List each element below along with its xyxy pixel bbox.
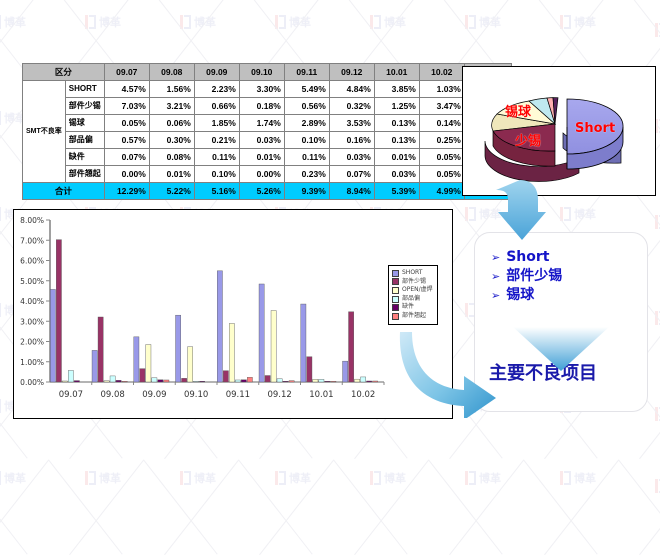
table-side-label: SMT不良率 (23, 81, 66, 183)
table-total-cell: 5.16% (194, 183, 239, 200)
watermark-line (48, 459, 123, 554)
legend-swatch (392, 278, 399, 285)
watermark-logo: 博革 (180, 470, 216, 486)
table-row: 部件少锡7.03%3.21%0.66%0.18%0.56%0.32%1.25%3… (23, 98, 512, 115)
y-axis-tick-label: 4.00% (20, 297, 44, 306)
table-total-cell: 9.39% (284, 183, 329, 200)
bar (325, 381, 330, 382)
bar (241, 380, 246, 382)
bar (271, 311, 276, 382)
conclusion-bullet-label: 锡球 (506, 287, 534, 303)
table-col-header: 09.07 (104, 64, 149, 81)
b-logo-icon (275, 15, 286, 29)
y-axis-tick-label: 1.00% (20, 358, 44, 367)
table-cell: 0.03% (239, 132, 284, 149)
legend-label: OPEN/虚焊 (402, 286, 433, 295)
table-cell: 0.05% (104, 115, 149, 132)
bar (188, 347, 193, 382)
y-axis-tick-label: 8.00% (20, 216, 44, 225)
legend-swatch (392, 270, 399, 277)
bar (110, 376, 115, 382)
bar (367, 381, 372, 382)
bar (283, 381, 288, 382)
bar (229, 323, 234, 382)
watermark-logo: 博革 (655, 398, 660, 430)
table-corner-label: 区分 (23, 64, 105, 81)
bar (361, 377, 366, 382)
bar-chart-legend: SHORT部件少锡OPEN/虚焊部品偏缺件部件翘起 (388, 265, 438, 325)
b-logo-icon (465, 15, 476, 29)
pie-label-shaoxi: 少锡 (515, 130, 541, 149)
table-cell: 0.01% (374, 149, 419, 166)
watermark-line (69, 460, 144, 555)
watermark-logo: 博革 (560, 470, 596, 486)
legend-item: OPEN/虚焊 (392, 286, 433, 295)
table-cell: 0.25% (419, 132, 464, 149)
y-axis-tick-label: 6.00% (20, 257, 44, 266)
table-cell: 0.07% (104, 149, 149, 166)
x-axis-tick-label: 10.02 (351, 390, 375, 400)
table-cell: 3.30% (239, 81, 284, 98)
table-cell: 0.13% (374, 132, 419, 149)
x-axis-tick-label: 09.08 (100, 390, 124, 400)
conclusion-bullet: ➢部件少锡 (491, 268, 562, 284)
table-col-header: 09.10 (239, 64, 284, 81)
watermark-text: 博革 (4, 470, 26, 486)
bar (313, 379, 318, 382)
table-total-cell: 5.22% (149, 183, 194, 200)
bar (50, 289, 55, 382)
bar-chart-svg: 0.00%1.00%2.00%3.00%4.00%5.00%6.00%7.00%… (14, 210, 452, 418)
table-cell: 0.03% (329, 149, 374, 166)
watermark-text: 博革 (384, 14, 406, 30)
table-total-cell: 5.26% (239, 183, 284, 200)
bar (319, 379, 324, 382)
b-logo-icon (0, 15, 1, 29)
table-row-label: 部件翘起 (65, 166, 104, 183)
watermark-line (0, 460, 49, 555)
watermark-logo: 博革 (465, 206, 501, 222)
watermark-line (523, 459, 598, 554)
x-axis-tick-label: 10.01 (309, 390, 333, 400)
watermark-logo: 博革 (560, 206, 596, 222)
b-logo-icon (370, 15, 381, 29)
table-cell: 0.16% (329, 132, 374, 149)
watermark-logo: 博革 (85, 14, 121, 30)
watermark-line (0, 459, 28, 554)
y-axis-tick-label: 0.00% (20, 378, 44, 387)
x-axis-tick-label: 09.07 (59, 390, 83, 400)
watermark-line (639, 0, 660, 75)
b-logo-icon (560, 207, 571, 221)
b-logo-icon (85, 471, 96, 485)
watermark-text: 博革 (289, 470, 311, 486)
table-cell: 0.00% (239, 166, 284, 183)
bar (68, 370, 73, 382)
y-axis-tick-label: 2.00% (20, 338, 44, 347)
legend-item: 部件翘起 (392, 312, 433, 321)
watermark-text: 博革 (479, 470, 501, 486)
b-logo-icon (655, 215, 660, 229)
bar (158, 380, 163, 382)
table-total-cell: 12.29% (104, 183, 149, 200)
watermark-logo: 博革 (180, 14, 216, 30)
table-cell: 0.11% (194, 149, 239, 166)
table-row-label: 锡球 (65, 115, 104, 132)
watermark-logo: 博革 (560, 14, 596, 30)
bar (247, 377, 252, 382)
b-logo-icon (0, 111, 1, 125)
pie-label-short: Short (575, 121, 615, 136)
watermark-text: 博革 (384, 470, 406, 486)
b-logo-icon (85, 15, 96, 29)
table-cell: 3.53% (329, 115, 374, 132)
table-cell: 0.10% (194, 166, 239, 183)
table-cell: 0.13% (374, 115, 419, 132)
table-cell: 0.14% (419, 115, 464, 132)
bar (289, 381, 294, 382)
bar (223, 371, 228, 382)
legend-item: 部件少锡 (392, 278, 433, 287)
legend-item: 缺件 (392, 303, 433, 312)
b-logo-icon (275, 471, 286, 485)
table-cell: 0.01% (239, 149, 284, 166)
b-logo-icon (180, 471, 191, 485)
pie-label-xiqiu: 锡球 (505, 101, 531, 120)
watermark-logo: 博革 (655, 470, 660, 502)
table-cell: 0.10% (284, 132, 329, 149)
watermark-text: 博革 (4, 14, 26, 30)
bullet-arrow-icon: ➢ (491, 272, 500, 283)
table-cell: 0.07% (329, 166, 374, 183)
watermark-line (618, 459, 660, 554)
conclusion-bullet-label: 部件少锡 (506, 268, 562, 284)
table-total-cell: 8.94% (329, 183, 374, 200)
legend-swatch (392, 296, 399, 303)
conclusion-bullet: ➢锡球 (491, 287, 562, 303)
watermark-logo: 博革 (275, 470, 311, 486)
legend-swatch (392, 287, 399, 294)
bar (349, 312, 354, 382)
watermark-logo: 博革 (465, 14, 501, 30)
bar (134, 337, 139, 382)
b-logo-icon (0, 471, 1, 485)
watermark-line (618, 0, 660, 75)
bar (182, 378, 187, 382)
watermark-line (523, 0, 598, 75)
bar (62, 381, 67, 382)
legend-label: SHORT (402, 269, 422, 278)
y-axis-tick-label: 3.00% (20, 317, 44, 326)
x-axis-tick-label: 09.09 (142, 390, 166, 400)
watermark-text: 博革 (194, 470, 216, 486)
watermark-logo: 博革 (85, 470, 121, 486)
bar (265, 376, 270, 382)
table-total-row: 合计12.29%5.22%5.16%5.26%9.39%8.94%5.39%4.… (23, 183, 512, 200)
bar (56, 240, 61, 382)
bar (140, 369, 145, 382)
watermark-text: 博革 (289, 14, 311, 30)
watermark-text: 博革 (574, 206, 596, 222)
bullet-arrow-icon: ➢ (491, 291, 500, 302)
bar (74, 381, 79, 382)
b-logo-icon (560, 471, 571, 485)
table-cell: 1.74% (239, 115, 284, 132)
down-wedge-icon (513, 327, 609, 371)
watermark-logo: 博革 (370, 14, 406, 30)
table-cell: 0.23% (284, 166, 329, 183)
table-cell: 4.57% (104, 81, 149, 98)
b-logo-icon (655, 311, 660, 325)
bar (152, 378, 157, 382)
b-logo-icon (655, 23, 660, 37)
watermark-logo: 博革 (465, 470, 501, 486)
table-cell: 1.85% (194, 115, 239, 132)
watermark-line (333, 459, 408, 554)
pie-chart-panel: Short 少锡 锡球 (462, 66, 656, 196)
table-col-header: 09.08 (149, 64, 194, 81)
bar (235, 380, 240, 382)
x-axis-tick-label: 09.12 (267, 390, 291, 400)
watermark-text: 博革 (574, 470, 596, 486)
table-cell: 2.89% (284, 115, 329, 132)
bar (343, 361, 348, 382)
y-axis-tick-label: 7.00% (20, 236, 44, 245)
bar (98, 317, 103, 382)
table-col-header: 10.02 (419, 64, 464, 81)
watermark-line (164, 460, 239, 555)
bar (259, 284, 264, 382)
y-axis-tick-label: 5.00% (20, 277, 44, 286)
table-col-header: 09.12 (329, 64, 374, 81)
conclusion-bullet-list: ➢Short➢部件少锡➢锡球 (491, 249, 562, 306)
table-row-label: 部品偏 (65, 132, 104, 149)
bar-chart-panel: 0.00%1.00%2.00%3.00%4.00%5.00%6.00%7.00%… (13, 209, 453, 419)
b-logo-icon (465, 207, 476, 221)
bar (194, 381, 199, 382)
table-cell: 3.21% (149, 98, 194, 115)
bar (355, 379, 360, 382)
table-cell: 0.08% (149, 149, 194, 166)
b-logo-icon (0, 399, 1, 413)
table-cell: 0.01% (149, 166, 194, 183)
table-col-header: 10.01 (374, 64, 419, 81)
table-cell: 2.23% (194, 81, 239, 98)
watermark-logo: 博革 (370, 470, 406, 486)
table-cell: 7.03% (104, 98, 149, 115)
table-cell: 1.56% (149, 81, 194, 98)
table-cell: 0.11% (284, 149, 329, 166)
table-cell: 0.18% (239, 98, 284, 115)
table-row-label: 部件少锡 (65, 98, 104, 115)
table-total-label: 合计 (23, 183, 105, 200)
watermark-text: 博革 (194, 14, 216, 30)
bar (92, 350, 97, 382)
bar (200, 381, 205, 382)
bar (277, 379, 282, 382)
bar (373, 381, 378, 382)
table-total-cell: 5.39% (374, 183, 419, 200)
table-header-row: 区分 09.0709.0809.0909.1009.1109.1210.0110… (23, 64, 512, 81)
table-row: 部件翘起0.00%0.01%0.10%0.00%0.23%0.07%0.03%0… (23, 166, 512, 183)
table-cell: 3.47% (419, 98, 464, 115)
watermark-line (354, 460, 429, 555)
b-logo-icon (0, 303, 1, 317)
table-cell: 0.21% (194, 132, 239, 149)
legend-swatch (392, 313, 399, 320)
pie-chart-svg (463, 67, 655, 195)
table-row-label: SHORT (65, 81, 104, 98)
watermark-logo: 博革 (655, 206, 660, 238)
watermark-logo: 博革 (655, 14, 660, 46)
table-cell: 0.06% (149, 115, 194, 132)
table-total-cell: 4.99% (419, 183, 464, 200)
x-axis-tick-label: 09.10 (184, 390, 208, 400)
table-cell: 4.84% (329, 81, 374, 98)
watermark-text: 博革 (99, 470, 121, 486)
table-cell: 0.66% (194, 98, 239, 115)
table-cell: 0.32% (329, 98, 374, 115)
table-cell: 0.30% (149, 132, 194, 149)
conclusion-bullet: ➢Short (491, 249, 562, 265)
bullet-arrow-icon: ➢ (491, 253, 500, 264)
watermark-text: 博革 (574, 14, 596, 30)
legend-swatch (392, 304, 399, 311)
watermark-line (449, 460, 524, 555)
bar (116, 380, 121, 382)
b-logo-icon (560, 15, 571, 29)
x-axis-tick-label: 09.11 (226, 390, 250, 400)
table-row: 缺件0.07%0.08%0.11%0.01%0.11%0.03%0.01%0.0… (23, 149, 512, 166)
table-cell: 0.56% (284, 98, 329, 115)
conclusion-box: ➢Short➢部件少锡➢锡球 主要不良项目 (474, 232, 648, 412)
table-cell: 0.05% (419, 149, 464, 166)
bar (307, 357, 312, 382)
watermark-line (259, 460, 334, 555)
bar (301, 304, 306, 382)
b-logo-icon (180, 15, 191, 29)
defect-rate-table-panel: 区分 09.0709.0809.0909.1009.1109.1210.0110… (22, 63, 512, 200)
table-body: SMT不良率SHORT4.57%1.56%2.23%3.30%5.49%4.84… (23, 81, 512, 200)
legend-label: 部件翘起 (402, 312, 426, 321)
table-col-header: 09.11 (284, 64, 329, 81)
b-logo-icon (370, 471, 381, 485)
bar (164, 380, 169, 382)
table-col-header: 09.09 (194, 64, 239, 81)
watermark-text: 博革 (479, 206, 501, 222)
bar (217, 271, 222, 382)
watermark-logo: 博革 (655, 302, 660, 334)
table-cell: 1.03% (419, 81, 464, 98)
table-cell: 5.49% (284, 81, 329, 98)
watermark-line (428, 459, 503, 554)
watermark-line (544, 0, 619, 75)
table-cell: 3.85% (374, 81, 419, 98)
bar (176, 315, 181, 382)
table-cell: 0.57% (104, 132, 149, 149)
watermark-text: 博革 (479, 14, 501, 30)
b-logo-icon (465, 471, 476, 485)
watermark-line (143, 459, 218, 554)
legend-item: SHORT (392, 269, 433, 278)
watermark-text: 博革 (99, 14, 121, 30)
legend-label: 缺件 (402, 303, 414, 312)
watermark-line (544, 460, 619, 555)
table-cell: 0.03% (374, 166, 419, 183)
table-row: SMT不良率SHORT4.57%1.56%2.23%3.30%5.49%4.84… (23, 81, 512, 98)
bar (146, 345, 151, 382)
legend-label: 部件少锡 (402, 278, 426, 287)
watermark-line (238, 459, 313, 554)
conclusion-bullet-label: Short (506, 249, 549, 265)
b-logo-icon (655, 407, 660, 421)
b-logo-icon (655, 479, 660, 493)
table-row: 部品偏0.57%0.30%0.21%0.03%0.10%0.16%0.13%0.… (23, 132, 512, 149)
watermark-logo: 博革 (0, 14, 26, 30)
b-logo-icon (0, 207, 1, 221)
bar (104, 381, 109, 382)
table-cell: 1.25% (374, 98, 419, 115)
defect-rate-table: 区分 09.0709.0809.0909.1009.1109.1210.0110… (22, 63, 512, 200)
table-row: 锡球0.05%0.06%1.85%1.74%2.89%3.53%0.13%0.1… (23, 115, 512, 132)
table-row-label: 缺件 (65, 149, 104, 166)
bar (122, 381, 127, 382)
watermark-logo: 博革 (275, 14, 311, 30)
watermark-logo: 博革 (0, 470, 26, 486)
bar (331, 381, 336, 382)
table-cell: 0.00% (104, 166, 149, 183)
watermark-line (639, 460, 660, 555)
table-cell: 0.05% (419, 166, 464, 183)
